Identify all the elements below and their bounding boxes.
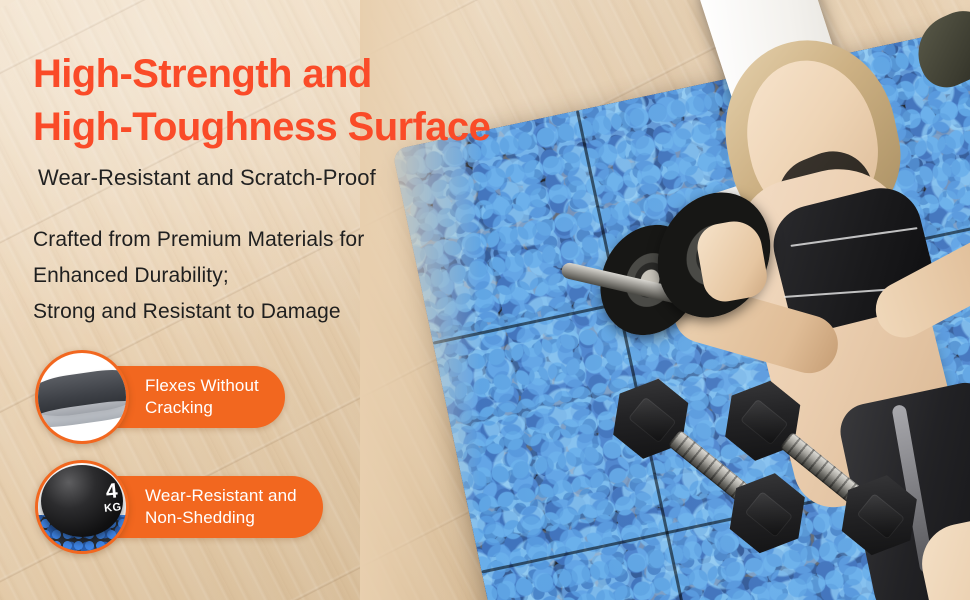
feature-badge-flex: Flexes Without Cracking (35, 366, 285, 428)
ball-weight-number: 4 (101, 480, 121, 503)
feature-badge-label: Flexes Without Cracking (145, 375, 259, 419)
body-copy-line-3: Strong and Resistant to Damage (33, 294, 364, 330)
headline-line-1: High-Strength and (33, 52, 372, 96)
product-feature-banner: High-Strength and High-Toughness Surface… (0, 0, 970, 600)
feature-badge-label: Wear-Resistant and Non-Shedding (145, 485, 297, 529)
page-title: High-Strength and High-Toughness Surface (33, 48, 633, 154)
flexed-mat-strip-icon (35, 350, 129, 444)
subheadline: Wear-Resistant and Scratch-Proof (38, 165, 376, 191)
headline-line-2: High-Toughness Surface (33, 101, 633, 154)
medicine-ball-icon: 4 KG (35, 460, 129, 554)
ball-weight-unit: KG (103, 502, 122, 515)
body-copy-line-2: Enhanced Durability; (33, 258, 364, 294)
body-copy-line-1: Crafted from Premium Materials for (33, 222, 364, 258)
feature-badge-wear: 4 KG Wear-Resistant and Non-Shedding (35, 476, 323, 538)
medicine-ball-weight-label: 4 KG (101, 480, 122, 515)
body-copy: Crafted from Premium Materials for Enhan… (33, 222, 364, 330)
